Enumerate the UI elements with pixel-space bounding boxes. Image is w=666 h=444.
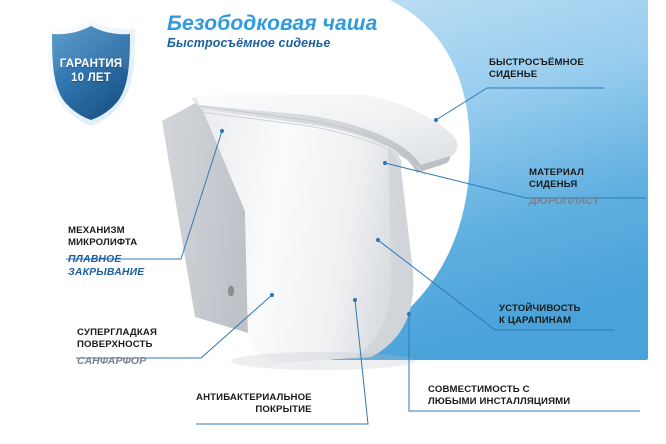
callout-smooth-line2: ПОВЕРХНОСТЬ	[77, 339, 157, 351]
infographic-canvas: ГАРАНТИЯ 10 ЛЕТ Безободковая чаша Быстро…	[0, 0, 666, 444]
leader-dot-smooth	[270, 293, 274, 297]
callout-microlift-line2: МИКРОЛИФТА	[68, 237, 144, 249]
callout-antibacterial-coating: АНТИБАКТЕРИАЛЬНОЕ ПОКРЫТИЕ	[196, 392, 312, 415]
callout-installation-compatibility: СОВМЕСТИМОСТЬ С ЛЮБЫМИ ИНСТАЛЛЯЦИЯМИ	[428, 384, 570, 407]
leader-dot-microlift	[220, 129, 224, 133]
leader-material	[385, 163, 646, 198]
callout-microlift-value-line1: ПЛАВНОЕ	[68, 253, 144, 266]
callout-quickseat-line2: СИДЕНЬЕ	[489, 69, 584, 81]
callout-install-line2: ЛЮБЫМИ ИНСТАЛЛЯЦИЯМИ	[428, 396, 570, 408]
callout-scratch-line1: УСТОЙЧИВОСТЬ	[499, 303, 581, 315]
callout-supersmooth-surface: СУПЕРГЛАДКАЯ ПОВЕРХНОСТЬ САНФАРФОР	[77, 327, 157, 368]
callout-seat-material: МАТЕРИАЛ СИДЕНЬЯ ДЮРОПЛАСТ	[529, 167, 599, 208]
leader-dot-material	[383, 161, 387, 165]
leader-dot-quickseat	[434, 118, 438, 122]
callout-microlift-value-line2: ЗАКРЫВАНИЕ	[68, 266, 144, 279]
callout-material-line1: МАТЕРИАЛ	[529, 167, 599, 179]
callout-smooth-value: САНФАРФОР	[77, 355, 157, 368]
callout-material-line2: СИДЕНЬЯ	[529, 179, 599, 191]
leader-dot-install	[407, 312, 411, 316]
callout-microlift-line1: МЕХАНИЗМ	[68, 225, 144, 237]
leader-dot-antibacterial	[353, 298, 357, 302]
callout-scratch-line2: К ЦАРАПИНАМ	[499, 315, 581, 327]
callout-quick-release-seat: БЫСТРОСЪЁМНОЕ СИДЕНЬЕ	[489, 57, 584, 80]
leader-dot-scratch	[376, 238, 380, 242]
callout-scratch-resistance: УСТОЙЧИВОСТЬ К ЦАРАПИНАМ	[499, 303, 581, 326]
callout-install-line1: СОВМЕСТИМОСТЬ С	[428, 384, 570, 396]
callout-quickseat-line1: БЫСТРОСЪЁМНОЕ	[489, 57, 584, 69]
callout-material-value: ДЮРОПЛАСТ	[529, 195, 599, 208]
leader-quickseat	[436, 88, 604, 120]
callout-smooth-line1: СУПЕРГЛАДКАЯ	[77, 327, 157, 339]
callout-antibacterial-line1: АНТИБАКТЕРИАЛЬНОЕ	[196, 392, 312, 404]
callout-microlift-mechanism: МЕХАНИЗМ МИКРОЛИФТА ПЛАВНОЕ ЗАКРЫВАНИЕ	[68, 225, 144, 279]
callout-antibacterial-line2: ПОКРЫТИЕ	[196, 404, 312, 416]
